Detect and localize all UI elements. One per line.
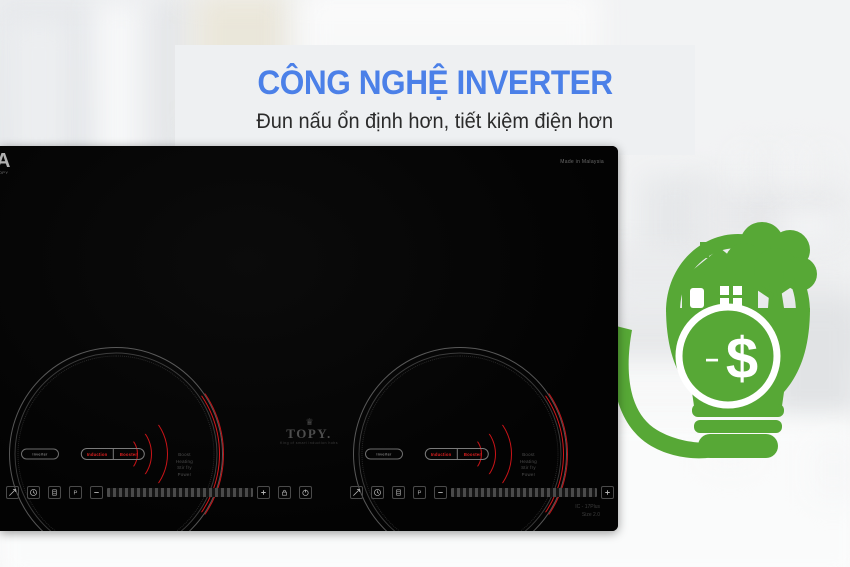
topy-brand-logo: ♛ TOPY. King of smart induction hobs (280, 418, 338, 446)
timer-button[interactable] (27, 486, 40, 499)
svg-text:P: P (418, 491, 422, 497)
zone-mode-badge-right: Induction Booster (425, 448, 489, 460)
minus-button[interactable] (434, 486, 447, 499)
zone-inverter-badge-left: Inverter (21, 449, 59, 460)
level-slider-group[interactable] (90, 486, 270, 499)
status-stack-left: Boost Heating Stir fry Power (176, 452, 193, 479)
topy-wordmark: TOPY. (280, 427, 338, 440)
boost-button[interactable] (350, 486, 363, 499)
bg-jar-4 (815, 148, 832, 188)
control-panel-right: P (350, 486, 618, 499)
corner-brand-glyph: A (0, 151, 22, 171)
svg-text:P: P (74, 491, 78, 497)
minus-sign: − (705, 347, 719, 374)
boost-button[interactable] (6, 486, 19, 499)
timer-button[interactable] (371, 486, 384, 499)
zone-mode-booster-right: Booster (457, 449, 488, 459)
status-label-power: Power (520, 472, 537, 479)
zone-mode-booster-left: Booster (113, 449, 144, 459)
level-slider-group[interactable] (434, 486, 614, 499)
level-slider[interactable] (451, 488, 597, 497)
plus-button[interactable] (257, 486, 270, 499)
menu-button[interactable] (48, 486, 61, 499)
corner-brand-sub: TOPY (0, 171, 22, 175)
status-label-stirfry: Stir fry (520, 465, 537, 472)
headline-subtitle: Đun nấu ổn định hơn, tiết kiệm điện hơn (257, 110, 614, 134)
status-label-boost: Boost (176, 452, 193, 459)
cooktop-corner-brand: A TOPY (0, 151, 22, 177)
headline-banner: CÔNG NGHỆ INVERTER Đun nấu ổn định hơn, … (175, 45, 695, 155)
status-label-heating: Heating (520, 459, 537, 466)
status-label-boost: Boost (520, 452, 537, 459)
zone-mode-induction-right: Induction (426, 449, 458, 459)
lock-button[interactable] (278, 486, 291, 499)
control-panel-left: P (6, 486, 312, 499)
house-window-2 (733, 286, 742, 295)
zone-mode-badge-left: Induction Booster (81, 448, 145, 460)
menu-button[interactable] (392, 486, 405, 499)
power-button[interactable] (299, 486, 312, 499)
house-door (690, 288, 704, 308)
model-stamp-line2: Size 2.0 (575, 512, 600, 520)
level-slider[interactable] (107, 488, 253, 497)
cooking-zone-left[interactable]: Inverter Induction Booster Ø 200 mm (9, 347, 223, 531)
pause-button[interactable]: P (413, 486, 426, 499)
bulb-thread-2 (694, 420, 782, 433)
headline-title: CÔNG NGHỆ INVERTER (257, 66, 612, 102)
plug-base (698, 434, 778, 458)
model-stamp: IC - 17Plus Size 2.0 (575, 504, 600, 519)
topy-tagline: King of smart induction hobs (280, 442, 338, 446)
cooking-zone-right[interactable]: Inverter Induction Booster Ø 200 mm (353, 347, 567, 531)
zone-mode-induction-left: Induction (82, 449, 114, 459)
pause-button[interactable]: P (69, 486, 82, 499)
status-label-heating: Heating (176, 459, 193, 466)
minus-button[interactable] (90, 486, 103, 499)
bg-jar-3 (788, 147, 805, 188)
induction-cooktop: A TOPY Made in Malaysia Inverter Inducti… (0, 146, 618, 531)
status-label-stirfry: Stir fry (176, 465, 193, 472)
house-window-1 (720, 286, 729, 295)
energy-saving-bulb-icon: − $ (604, 208, 850, 460)
plus-button[interactable] (601, 486, 614, 499)
bg-jar-1 (736, 148, 752, 188)
zone-inverter-badge-right: Inverter (365, 449, 403, 460)
bg-jar-2 (762, 148, 778, 188)
status-stack-right: Boost Heating Stir fry Power (520, 452, 537, 479)
made-in-label: Made in Malaysia (560, 159, 604, 165)
status-label-power: Power (176, 472, 193, 479)
dollar-sign: $ (726, 326, 758, 391)
model-stamp-line1: IC - 17Plus (575, 504, 600, 512)
